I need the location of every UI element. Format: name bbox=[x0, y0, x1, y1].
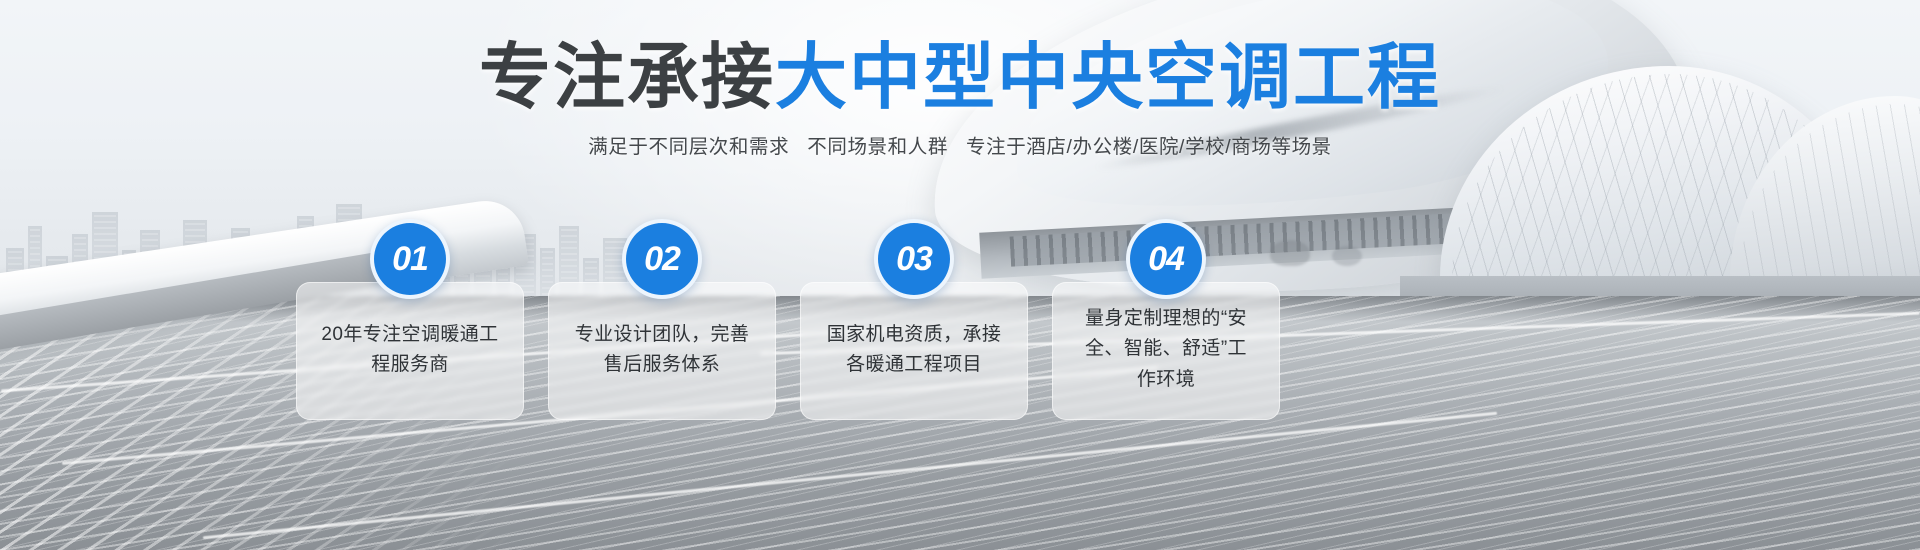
card-text-line: 量身定制理想的“安 bbox=[1070, 304, 1262, 334]
feature-card[interactable]: 02 专业设计团队，完善 售后服务体系 bbox=[548, 282, 776, 420]
card-text-line: 20年专注空调暖通工 bbox=[314, 320, 506, 350]
hero-banner: 专注承接大中型中央空调工程 满足于不同层次和需求 不同场景和人群 专注于酒店/办… bbox=[0, 0, 1920, 550]
feature-card-list: 01 20年专注空调暖通工 程服务商 02 专业设计团队，完善 售后服务体系 0… bbox=[296, 282, 1280, 420]
card-number-badge: 04 bbox=[1126, 219, 1206, 299]
card-number-text: 03 bbox=[896, 242, 932, 276]
card-text-line: 程服务商 bbox=[314, 350, 506, 380]
card-text: 专业设计团队，完善 售后服务体系 bbox=[566, 320, 758, 381]
card-number-text: 04 bbox=[1148, 242, 1184, 276]
card-text: 量身定制理想的“安 全、智能、舒适”工 作环境 bbox=[1070, 304, 1262, 395]
headline-dark-text: 专注承接 bbox=[479, 38, 775, 118]
feature-card[interactable]: 03 国家机电资质，承接 各暖通工程项目 bbox=[800, 282, 1028, 420]
card-text-line: 国家机电资质，承接 bbox=[818, 320, 1010, 350]
card-number-badge: 03 bbox=[874, 219, 954, 299]
card-number-badge: 02 bbox=[622, 219, 702, 299]
feature-card[interactable]: 01 20年专注空调暖通工 程服务商 bbox=[296, 282, 524, 420]
card-text-line: 各暖通工程项目 bbox=[818, 350, 1010, 380]
page-title: 专注承接大中型中央空调工程 bbox=[0, 42, 1920, 114]
headline-accent-text: 大中型中央空调工程 bbox=[775, 38, 1441, 118]
card-number-text: 01 bbox=[392, 242, 428, 276]
card-number-text: 02 bbox=[644, 242, 680, 276]
card-text-line: 作环境 bbox=[1070, 365, 1262, 395]
card-number-badge: 01 bbox=[370, 219, 450, 299]
feature-card[interactable]: 04 量身定制理想的“安 全、智能、舒适”工 作环境 bbox=[1052, 282, 1280, 420]
card-text: 20年专注空调暖通工 程服务商 bbox=[314, 320, 506, 381]
card-text-line: 专业设计团队，完善 bbox=[566, 320, 758, 350]
card-text: 国家机电资质，承接 各暖通工程项目 bbox=[818, 320, 1010, 381]
card-text-line: 售后服务体系 bbox=[566, 350, 758, 380]
page-subtitle: 满足于不同层次和需求 不同场景和人群 专注于酒店/办公楼/医院/学校/商场等场景 bbox=[0, 130, 1920, 159]
card-text-line: 全、智能、舒适”工 bbox=[1070, 334, 1262, 364]
